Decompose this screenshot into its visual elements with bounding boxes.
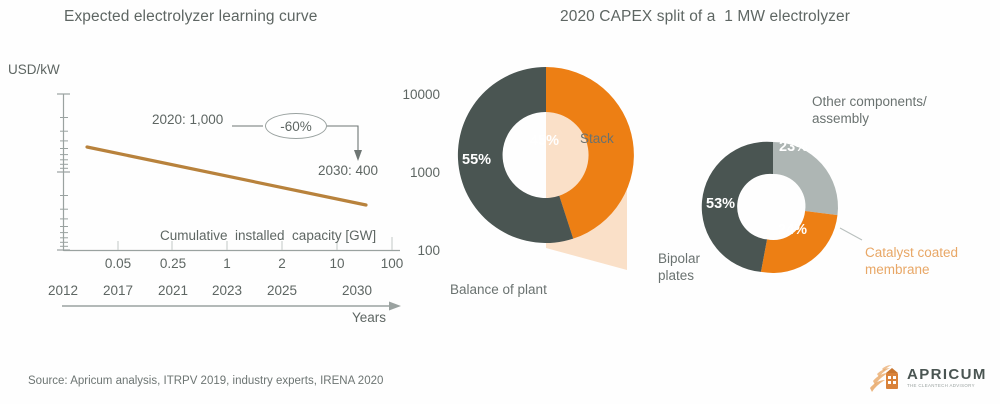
callout-connector-right (327, 126, 358, 152)
years-axis-label: Years (352, 310, 386, 325)
x-tick-capacity-5: 100 (365, 256, 419, 271)
x-tick-capacity-3: 2 (255, 256, 309, 271)
category-label-balance-of-plant: Balance of plant (450, 281, 547, 298)
slice-label-catalyst-pct: 24% (778, 222, 807, 238)
capex-split-panel: 2020 CAPEX split of a 1 MW electrolyzer … (440, 0, 1000, 404)
learning-curve-panel: Expected electrolyzer learning curve USD… (0, 0, 440, 404)
annotation-change-badge: -60% (265, 113, 327, 139)
apricum-logo: APRICUM THE CLEANTECH ADVISORY (868, 358, 992, 398)
x-axis-caption: Cumulative installed capacity [GW] (160, 228, 376, 243)
source-note: Source: Apricum analysis, ITRPV 2019, in… (28, 375, 383, 387)
x-tick-year-4: 2025 (255, 283, 309, 298)
category-label-catalyst-membrane: Catalyst coated membrane (865, 244, 958, 279)
slice-label-bipolar-pct: 53% (706, 196, 735, 212)
category-label-stack: Stack (580, 130, 614, 147)
x-tick-capacity-4: 10 (310, 256, 364, 271)
category-label-bipolar-plates: Bipolar plates (658, 250, 700, 285)
slice-label-other-pct: 23% (779, 139, 808, 155)
x-tick-capacity-1: 0.25 (146, 256, 200, 271)
x-tick-capacity-0: 0.05 (91, 256, 145, 271)
x-tick-year-0: 2012 (36, 283, 90, 298)
apricum-sun-icon (868, 361, 902, 395)
x-tick-year-5: 2030 (330, 283, 384, 298)
apricum-logo-text: APRICUM THE CLEANTECH ADVISORY (907, 367, 987, 388)
apricum-tagline: THE CLEANTECH ADVISORY (907, 384, 987, 388)
catalyst-label-leader-line (840, 228, 862, 240)
callout-arrowhead (354, 150, 362, 161)
apricum-wordmark: APRICUM (907, 367, 987, 382)
years-axis-arrowhead (389, 302, 401, 311)
x-tick-year-1: 2017 (91, 283, 145, 298)
donut-slice-catalyst-membrane[interactable] (761, 211, 838, 273)
x-tick-year-2: 2021 (146, 283, 200, 298)
x-tick-year-3: 2023 (200, 283, 254, 298)
annotation-2030-value: 2030: 400 (318, 163, 378, 178)
annotation-2020-value: 2020: 1,000 (152, 112, 223, 127)
category-label-other-components: Other components/ assembly (812, 93, 927, 128)
slide-canvas: Expected electrolyzer learning curve USD… (0, 0, 1000, 404)
slice-label-stack-pct: 45% (530, 133, 559, 149)
x-tick-capacity-2: 1 (200, 256, 254, 271)
slice-label-bop-pct: 55% (462, 152, 491, 168)
